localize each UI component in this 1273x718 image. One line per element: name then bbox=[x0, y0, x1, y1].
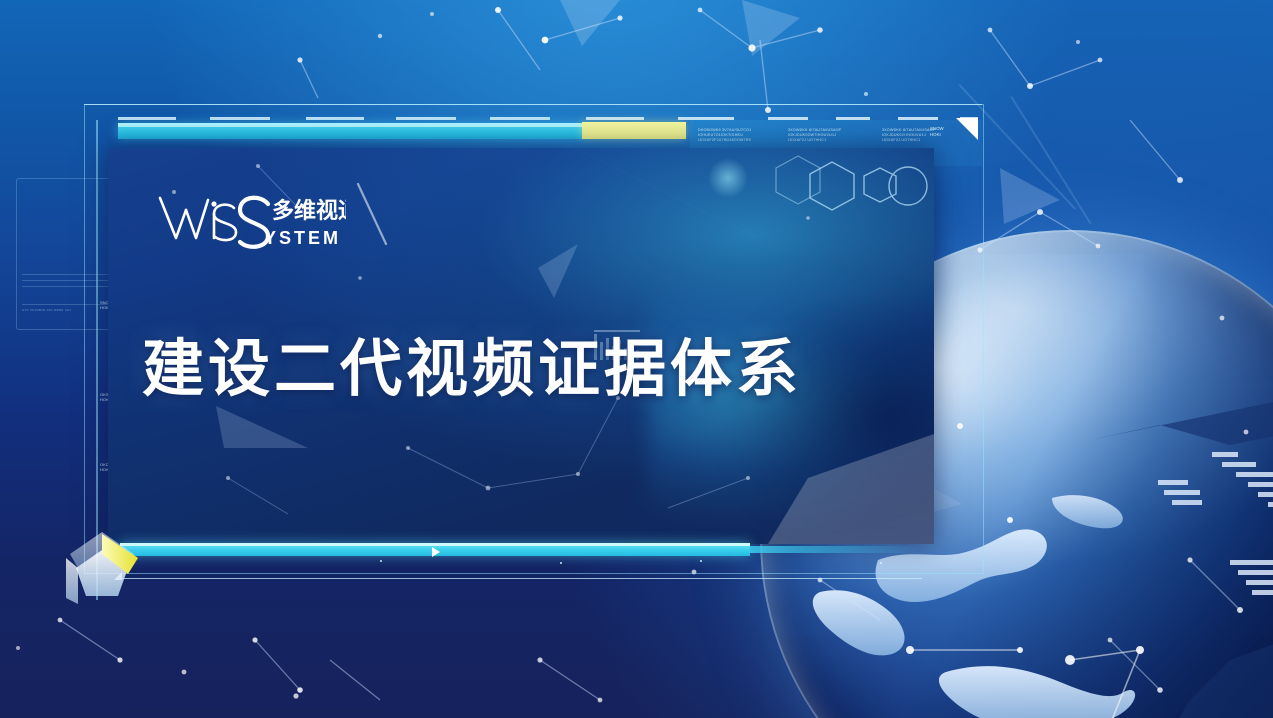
dash-tick bbox=[490, 117, 550, 120]
header-cyan-highlight bbox=[118, 123, 586, 127]
page-title: 建设二代视频证据体系 bbox=[142, 318, 842, 408]
dash-tick bbox=[586, 117, 644, 120]
hud-microtext-col-3: 3XOWDKK 8/7AU7AVUSAOP IOKJDUK0JI IHOUVU1… bbox=[882, 128, 935, 144]
dash-tick bbox=[118, 117, 176, 120]
footer-rule bbox=[122, 578, 922, 579]
hud-microtext-col-1: DKOBOWK9 3V7AU/3U7CO1 IOHUEU7O1IOKTIGHEU… bbox=[698, 128, 751, 144]
hud-microtext-col-2: 3XOWDKK 8/7AU7AVUSAOP IOKJDUK0OW7IHOUVU1… bbox=[788, 128, 841, 144]
pentagon-emblem-artwork bbox=[52, 524, 156, 610]
dash-tick bbox=[396, 117, 456, 120]
dash-tick bbox=[306, 117, 364, 120]
footer-cyan-highlight bbox=[120, 543, 750, 546]
logo-artwork: 多维视通 YSTEM bbox=[156, 190, 346, 258]
footer-cyan-tail bbox=[750, 546, 920, 553]
dash-tick bbox=[210, 117, 270, 120]
hud-glow-dot bbox=[708, 158, 748, 198]
pentagon-emblem bbox=[52, 524, 156, 610]
corner-triangle-accent bbox=[956, 118, 978, 140]
slide-canvas: U7V3C1 7 IOK9U30OWK 8FV7 IC11 IU0KOW7KD3… bbox=[0, 0, 1273, 718]
outer-frame-top-line bbox=[84, 104, 982, 105]
play-triangle-icon bbox=[432, 547, 440, 557]
corner-tag: SNOWHOKI bbox=[930, 126, 944, 138]
logo-name-en: YSTEM bbox=[264, 228, 341, 248]
header-yellow-accent bbox=[582, 122, 686, 139]
logo-name-cn: 多维视通 bbox=[272, 198, 346, 223]
brand-logo: 多维视通 YSTEM bbox=[156, 190, 346, 258]
